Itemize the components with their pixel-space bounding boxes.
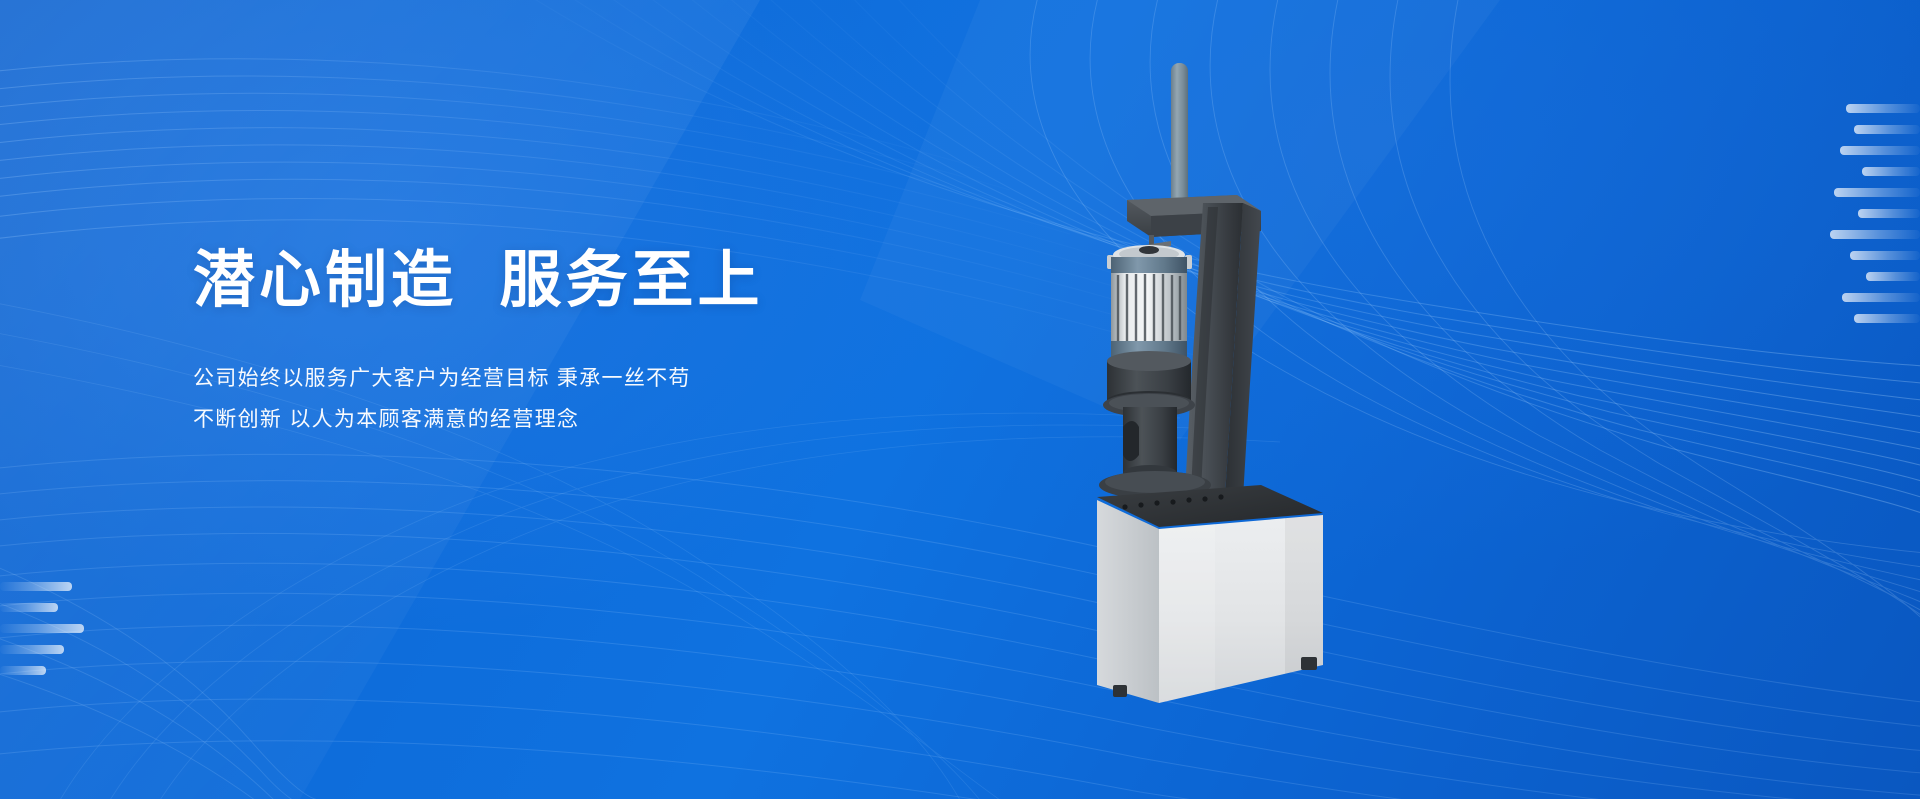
decorative-bar-stack-right [1830,104,1920,323]
decorative-bar [1840,146,1920,155]
decorative-bar [1862,167,1920,176]
cabinet-front [1097,500,1159,703]
decorative-bar [0,582,72,591]
decorative-bar [1866,272,1920,281]
product-illustration [1085,45,1425,705]
decorative-bar [1834,188,1920,197]
guide-rod [1171,63,1188,213]
decorative-bar [1854,125,1920,134]
cabinet-foot-left [1113,685,1127,697]
hero-subcopy-line-1: 公司始终以服务广大客户为经营目标 秉承一丝不苟 [193,359,953,400]
decorative-bar [0,645,64,654]
decorative-bar-stack-left [0,582,84,675]
decorative-bar [1842,293,1920,302]
hero-headline: 潜心制造 服务至上 [193,248,953,315]
decorative-bar [0,666,46,675]
cabinet-foot-right [1301,657,1317,670]
hero-copy-block: 潜心制造 服务至上 公司始终以服务广大客户为经营目标 秉承一丝不苟 不断创新 以… [193,248,953,441]
decorative-bar [1846,104,1920,113]
hero-subcopy-line-2: 不断创新 以人为本顾客满意的经营理念 [193,400,953,441]
filter-cage [1111,273,1187,343]
hero-banner: 潜心制造 服务至上 公司始终以服务广大客户为经营目标 秉承一丝不苟 不断创新 以… [0,0,1920,799]
decorative-bar [1858,209,1920,218]
decorative-bar [1850,251,1920,260]
decorative-bar [1830,230,1920,239]
decorative-bar [0,624,84,633]
decorative-bar [1854,314,1920,323]
pedestal-port [1123,421,1139,461]
decorative-bar [0,603,58,612]
hero-subcopy: 公司始终以服务广大客户为经营目标 秉承一丝不苟 不断创新 以人为本顾客满意的经营… [193,359,953,441]
